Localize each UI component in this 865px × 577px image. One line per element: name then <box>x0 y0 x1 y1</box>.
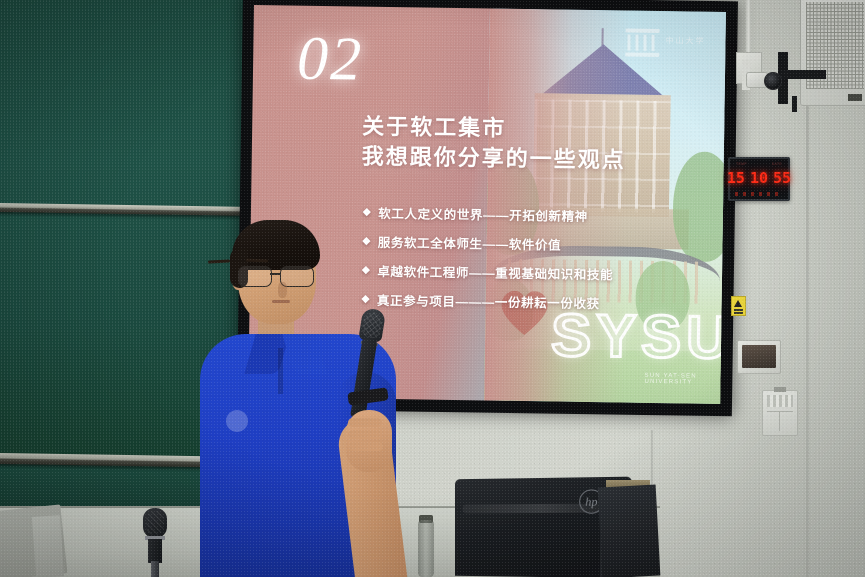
light-switches[interactable] <box>767 395 793 407</box>
list-item-label: 真正参与项目———一份耕耘一份收获 <box>377 290 600 312</box>
clock-minutes: 10 <box>750 169 768 187</box>
list-item-label: 卓越软件工程师——重视基础知识和技能 <box>377 261 613 283</box>
headline-line-2: 我想跟你分享的一些观点 <box>362 142 626 176</box>
eyebrow <box>208 259 230 263</box>
light-switch-plate[interactable] <box>762 390 798 436</box>
section-number: 02 <box>297 28 364 91</box>
finger <box>348 430 382 439</box>
mouth <box>272 300 290 303</box>
clock-top-labels: TEMP DATE <box>736 162 782 167</box>
list-item-label: 软工人定义的世界——开拓创新精神 <box>378 203 588 225</box>
wall-panel-screen <box>742 345 776 368</box>
shirt-placket <box>278 348 283 394</box>
slide-headline: 关于软工集市 我想跟你分享的一些观点 <box>362 112 627 177</box>
warning-text-line <box>734 312 743 314</box>
water-bottle <box>418 520 434 577</box>
finger <box>349 442 383 451</box>
switch-divider-vertical <box>779 411 780 431</box>
dark-equipment-case <box>598 485 661 577</box>
headline-line-1: 关于软工集市 <box>362 112 626 146</box>
presenter <box>196 222 406 577</box>
lectern-panel-side <box>32 515 64 577</box>
wall-conduit <box>746 0 751 60</box>
switch-plate-tab <box>774 387 786 392</box>
microphone-mesh <box>146 511 164 535</box>
warning-text-line <box>734 309 743 311</box>
warning-label <box>731 296 746 316</box>
microphone-mesh <box>361 311 384 340</box>
wall-control-panel[interactable] <box>737 340 781 374</box>
clock-label-left: TEMP <box>736 162 747 167</box>
diamond-bullet-icon: ◆ <box>363 207 371 217</box>
camera-lens-icon <box>764 72 782 90</box>
lens-left <box>238 266 272 287</box>
microphone-body <box>148 539 162 563</box>
microphone-stand <box>151 561 159 577</box>
classroom-photo: SYSU SUN YAT-SEN UNIVERSITY 中山大学 02 关于软工… <box>0 0 865 577</box>
finger <box>348 418 382 427</box>
nose <box>278 282 287 298</box>
wall-speaker <box>800 0 865 106</box>
switch-divider <box>767 411 793 412</box>
speaker-mount-foot <box>792 96 797 112</box>
microphone-head <box>358 308 386 343</box>
speaker-mount-arm <box>780 70 826 79</box>
clock-seconds: 55 <box>773 169 791 187</box>
shirt-logo <box>226 410 248 432</box>
clock-hours: 15 <box>727 169 745 187</box>
speaker-label <box>848 94 862 101</box>
warning-triangle-icon <box>734 300 742 307</box>
digital-clock: TEMP DATE 15 10 55 <box>728 157 790 201</box>
clock-indicator-row <box>735 192 783 196</box>
clock-label-right: DATE <box>772 162 782 167</box>
clock-time-display: 15 10 55 <box>730 169 788 187</box>
glasses-bridge <box>270 273 280 275</box>
stand-microphone <box>143 508 167 538</box>
